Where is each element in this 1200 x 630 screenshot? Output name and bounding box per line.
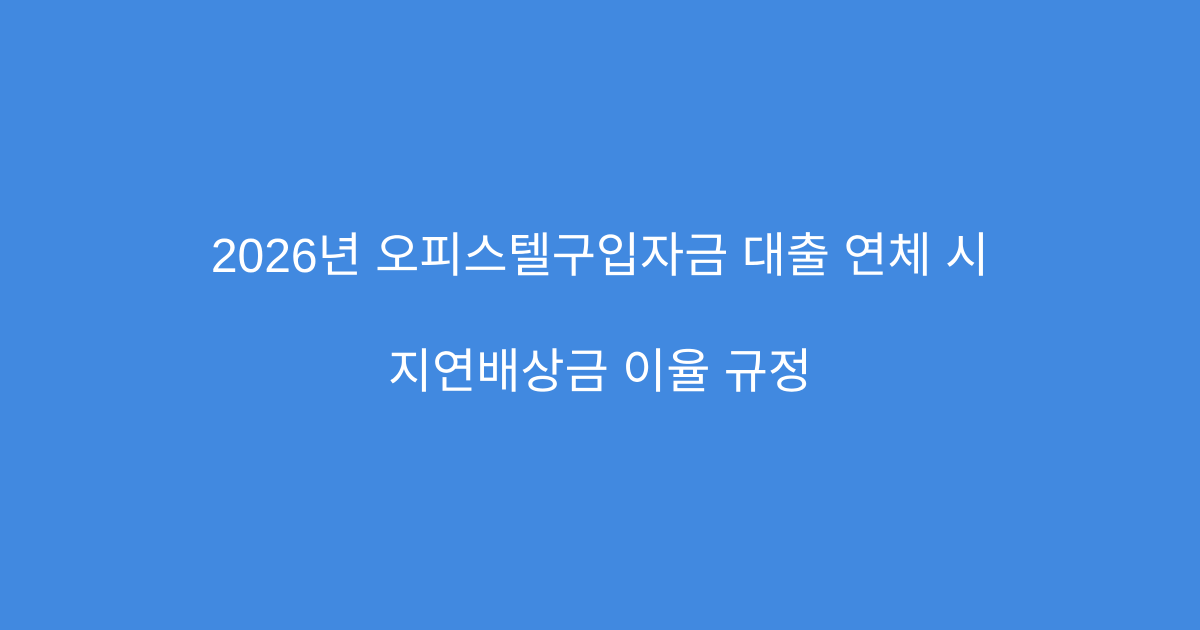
banner-content-wrapper: 2026년 오피스텔구입자금 대출 연체 시 지연배상금 이율 규정 [0,170,1200,460]
banner-title-line-2: 지연배상금 이율 규정 [80,344,1120,402]
banner-title: 2026년 오피스텔구입자금 대출 연체 시 지연배상금 이율 규정 [80,170,1120,460]
banner-title-line-1: 2026년 오피스텔구입자금 대출 연체 시 [80,228,1120,286]
og-banner-card: 2026년 오피스텔구입자금 대출 연체 시 지연배상금 이율 규정 [0,0,1200,630]
